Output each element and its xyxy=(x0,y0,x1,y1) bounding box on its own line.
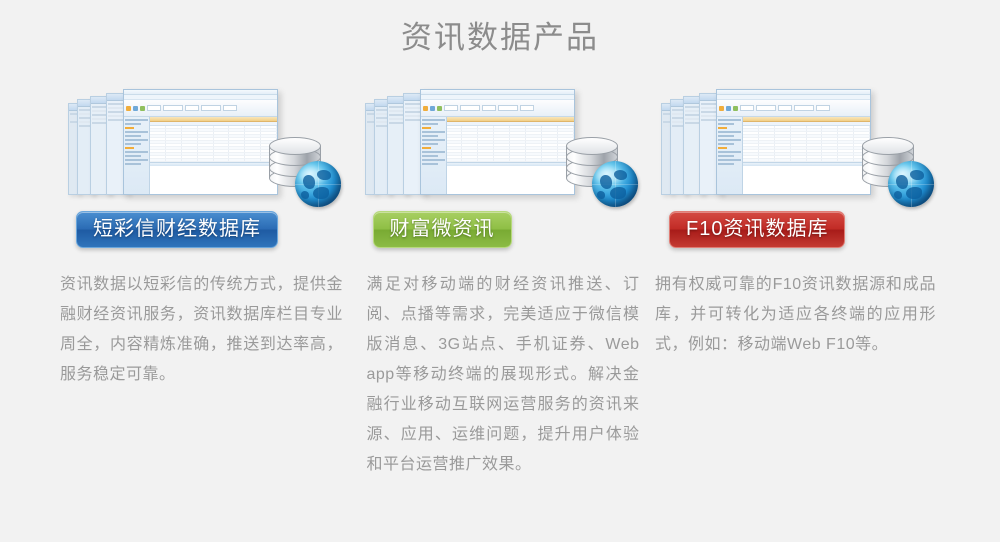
product-card: 财富微资讯 满足对移动端的财经资讯推送、订阅、点播等需求，完美适应于微信模版消息… xyxy=(357,83,644,480)
nav-row xyxy=(718,163,734,165)
toolbar-field xyxy=(201,105,221,111)
toolbar-icon xyxy=(133,106,138,111)
cylinder-top-disc xyxy=(269,137,321,155)
spreadsheet-grid xyxy=(743,117,870,194)
toolbar-field xyxy=(778,105,792,111)
product-illustration xyxy=(653,83,940,213)
spreadsheet-stack-icon xyxy=(68,89,278,195)
database-globe-icon xyxy=(269,133,341,207)
database-globe-icon xyxy=(862,133,934,207)
toolbar-field xyxy=(756,105,776,111)
nav-row xyxy=(422,119,445,121)
globe-landmass xyxy=(597,191,605,198)
globe-landmass xyxy=(303,175,315,189)
product-badge-wrap: 短彩信财经数据库 xyxy=(60,215,347,248)
cylinder-top-disc xyxy=(566,137,618,155)
nav-row xyxy=(718,119,741,121)
globe-landmass xyxy=(600,175,612,189)
globe-equator xyxy=(592,184,638,185)
globe-landmass xyxy=(313,187,329,199)
nav-row xyxy=(718,143,734,145)
globe-equator xyxy=(295,184,341,185)
product-description: 资讯数据以短彩信的传统方式，提供金融财经资讯服务，资讯数据库栏目专业周全，内容精… xyxy=(60,270,347,390)
toolbar-field xyxy=(147,105,161,111)
toolbar-field xyxy=(163,105,183,111)
globe-landmass xyxy=(614,170,628,180)
toolbar-icon xyxy=(126,106,131,111)
cylinder-top-disc xyxy=(862,137,914,155)
toolbar-icon xyxy=(140,106,145,111)
toolbar-field xyxy=(794,105,814,111)
nav-row xyxy=(125,159,148,161)
window-statusbar xyxy=(743,162,870,166)
window-toolbar xyxy=(124,100,277,117)
globe-landmass xyxy=(894,191,902,198)
product-badge[interactable]: F10资讯数据库 xyxy=(669,211,845,248)
nav-row xyxy=(422,147,431,149)
product-illustration xyxy=(60,83,347,213)
product-badge-wrap: 财富微资讯 xyxy=(357,215,644,248)
nav-row xyxy=(718,123,734,125)
toolbar-field xyxy=(520,105,534,111)
nav-row xyxy=(125,135,141,137)
toolbar-field xyxy=(816,105,830,111)
nav-row xyxy=(422,159,445,161)
database-globe-icon xyxy=(566,133,638,207)
nav-row xyxy=(718,135,734,137)
globe-landmass xyxy=(906,187,922,199)
nav-row xyxy=(718,147,727,149)
nav-row xyxy=(718,151,741,153)
window-nav-pane xyxy=(124,117,150,194)
window-toolbar xyxy=(421,100,574,117)
product-card-list: 短彩信财经数据库 资讯数据以短彩信的传统方式，提供金融财经资讯服务，资讯数据库栏… xyxy=(0,53,1000,480)
product-card: F10资讯数据库 拥有权威可靠的F10资讯数据源和成品库，并可转化为适应各终端的… xyxy=(653,83,940,480)
nav-row xyxy=(422,131,445,133)
nav-row xyxy=(422,123,438,125)
toolbar-field xyxy=(223,105,237,111)
nav-row xyxy=(718,159,741,161)
window-nav-pane xyxy=(717,117,743,194)
toolbar-field xyxy=(482,105,496,111)
toolbar-icon xyxy=(423,106,428,111)
nav-row xyxy=(125,131,148,133)
nav-row xyxy=(422,143,438,145)
window-statusbar xyxy=(447,162,574,166)
window-body xyxy=(124,117,277,194)
spreadsheet-grid xyxy=(447,117,574,194)
toolbar-icon xyxy=(719,106,724,111)
toolbar-icon xyxy=(733,106,738,111)
nav-row xyxy=(125,163,141,165)
spreadsheet-grid xyxy=(150,117,277,194)
product-illustration xyxy=(357,83,644,213)
nav-row xyxy=(422,155,438,157)
toolbar-field xyxy=(460,105,480,111)
nav-row xyxy=(125,151,148,153)
nav-row xyxy=(125,123,141,125)
nav-row xyxy=(125,119,148,121)
page-title: 资讯数据产品 xyxy=(0,0,1000,53)
globe-icon xyxy=(295,161,341,207)
window-statusbar xyxy=(150,162,277,166)
toolbar-field xyxy=(444,105,458,111)
page-root: 资讯数据产品 xyxy=(0,0,1000,542)
toolbar-field xyxy=(740,105,754,111)
product-description: 满足对移动端的财经资讯推送、订阅、点播等需求，完美适应于微信模版消息、3G站点、… xyxy=(357,270,644,480)
globe-landmass xyxy=(317,170,331,180)
nav-row xyxy=(422,127,431,129)
globe-landmass xyxy=(610,187,626,199)
nav-row xyxy=(125,127,134,129)
toolbar-icon xyxy=(430,106,435,111)
product-badge-wrap: F10资讯数据库 xyxy=(653,215,940,248)
product-badge[interactable]: 短彩信财经数据库 xyxy=(76,211,278,248)
product-card: 短彩信财经数据库 资讯数据以短彩信的传统方式，提供金融财经资讯服务，资讯数据库栏… xyxy=(60,83,347,480)
nav-row xyxy=(125,139,148,141)
nav-row xyxy=(422,139,445,141)
spreadsheet-window-front xyxy=(716,89,871,195)
globe-landmass xyxy=(910,170,924,180)
nav-row xyxy=(422,163,438,165)
spreadsheet-window-front xyxy=(420,89,575,195)
toolbar-field xyxy=(498,105,518,111)
nav-row xyxy=(422,151,445,153)
spreadsheet-stack-icon xyxy=(661,89,871,195)
window-body xyxy=(421,117,574,194)
nav-row xyxy=(125,147,134,149)
nav-row xyxy=(718,155,734,157)
nav-row xyxy=(422,135,438,137)
spreadsheet-stack-icon xyxy=(365,89,575,195)
product-description: 拥有权威可靠的F10资讯数据源和成品库，并可转化为适应各终端的应用形式，例如：移… xyxy=(653,270,940,360)
nav-row xyxy=(718,139,741,141)
globe-landmass xyxy=(301,191,309,198)
toolbar-icon xyxy=(726,106,731,111)
globe-icon xyxy=(888,161,934,207)
window-toolbar xyxy=(717,100,870,117)
globe-equator xyxy=(888,184,934,185)
nav-row xyxy=(718,131,741,133)
toolbar-field xyxy=(185,105,199,111)
window-body xyxy=(717,117,870,194)
spreadsheet-window-front xyxy=(123,89,278,195)
globe-landmass xyxy=(896,175,908,189)
window-nav-pane xyxy=(421,117,447,194)
toolbar-icon xyxy=(437,106,442,111)
product-badge[interactable]: 财富微资讯 xyxy=(373,211,512,248)
nav-row xyxy=(125,143,141,145)
nav-row xyxy=(718,127,727,129)
nav-row xyxy=(125,155,141,157)
globe-icon xyxy=(592,161,638,207)
